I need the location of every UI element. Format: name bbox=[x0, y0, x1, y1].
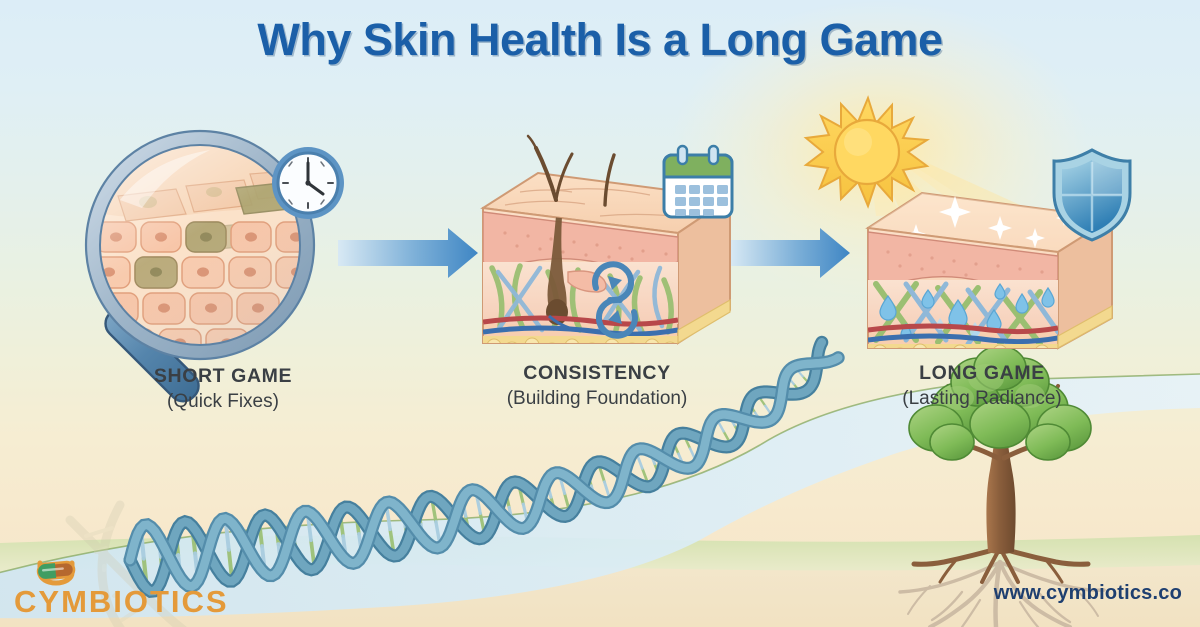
hydrated-radiant-skin-block bbox=[0, 0, 1200, 627]
stage-caption-consistency: CONSISTENCY (Building Foundation) bbox=[432, 362, 762, 410]
stage-subtitle-long-game: (Lasting Radiance) bbox=[817, 388, 1147, 410]
stage-subtitle-consistency: (Building Foundation) bbox=[432, 388, 762, 410]
website-url[interactable]: www.cymbiotics.co bbox=[994, 582, 1182, 605]
stage-title-consistency: CONSISTENCY bbox=[432, 362, 762, 385]
stage-title-long-game: LONG GAME bbox=[817, 362, 1147, 385]
stage-caption-long-game: LONG GAME (Lasting Radiance) bbox=[817, 362, 1147, 410]
stage-title-short-game: SHORT GAME bbox=[58, 365, 388, 388]
page-title: Why Skin Health Is a Long Game bbox=[0, 14, 1200, 66]
brand-logo-text: CYMBIOTICS bbox=[14, 586, 229, 617]
infographic-canvas: SHORT GAME (Quick Fixes) CONSISTENCY (Bu… bbox=[0, 0, 1200, 627]
stage-subtitle-short-game: (Quick Fixes) bbox=[58, 391, 388, 413]
brand-logo[interactable]: CYMBIOTICS bbox=[14, 559, 229, 617]
stage-caption-short-game: SHORT GAME (Quick Fixes) bbox=[58, 365, 388, 413]
